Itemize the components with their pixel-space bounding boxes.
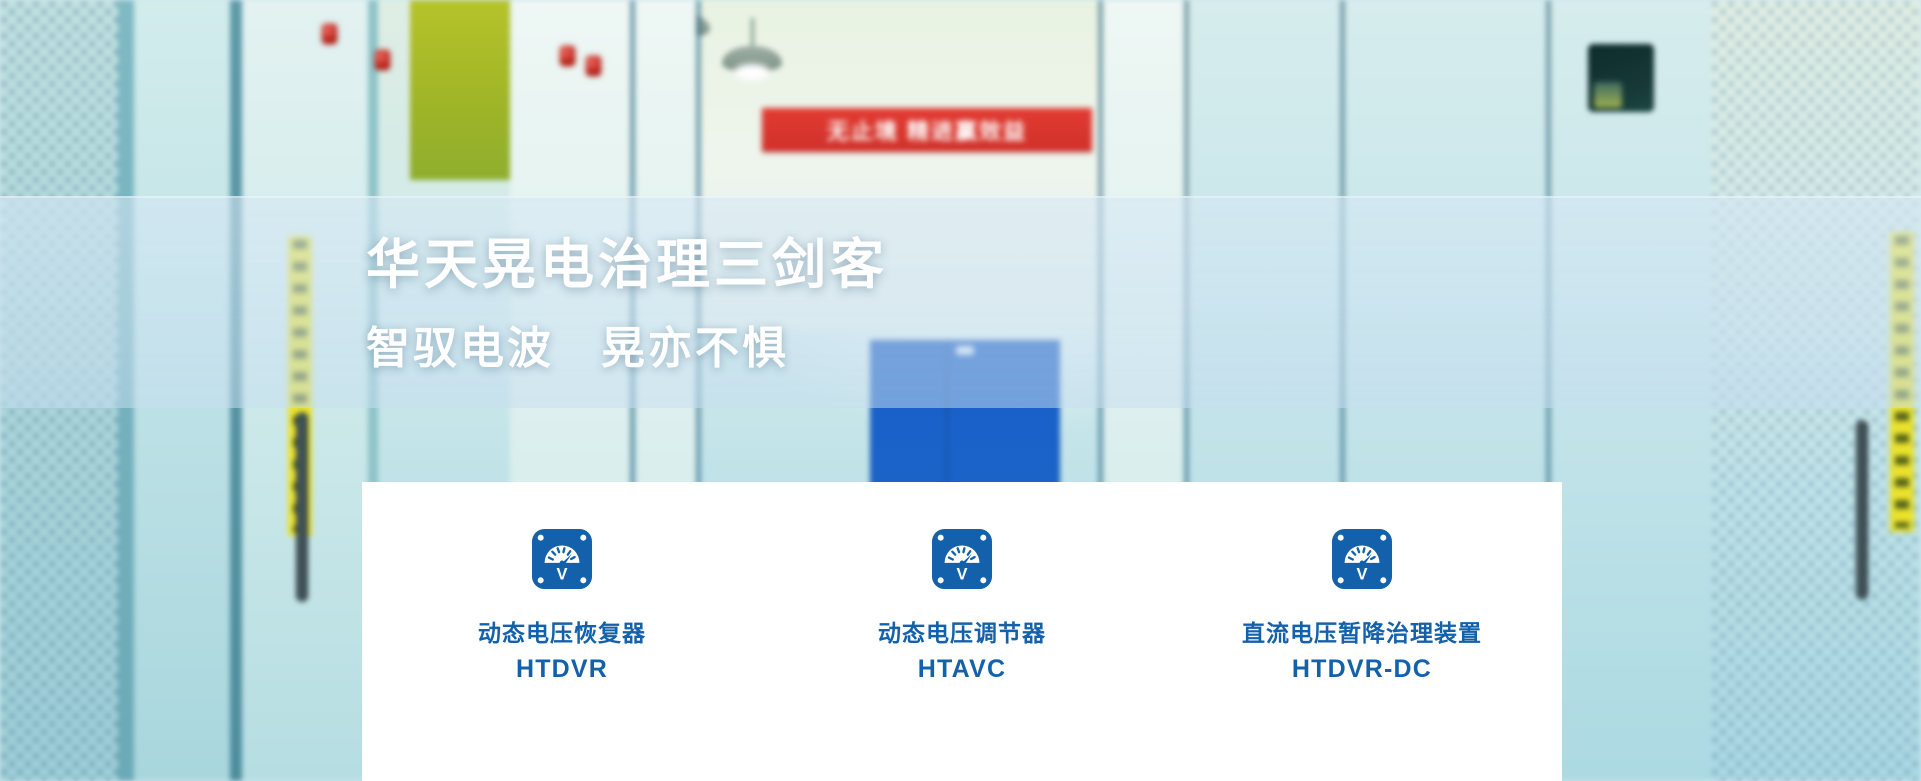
svg-text:V: V — [557, 565, 568, 583]
wall-banner: 无止境 精进赢效益 — [762, 108, 1092, 152]
ceiling-lamp-2 — [722, 18, 782, 88]
door-handle — [1856, 420, 1868, 600]
product-code: HTDVR — [397, 655, 727, 684]
indicator-light — [375, 50, 390, 70]
voltmeter-icon: V — [797, 528, 1127, 590]
page-subtitle: 智驭电波 晃亦不惧 — [366, 312, 888, 376]
product-name: 动态电压调节器 — [797, 618, 1127, 649]
indicator-light — [322, 24, 337, 44]
product-name: 动态电压恢复器 — [397, 618, 727, 649]
product-item[interactable]: V 动态电压恢复器 HTDVR — [397, 482, 727, 684]
overlay-band-top-edge — [0, 196, 1921, 198]
yellow-green-panel — [410, 0, 510, 180]
product-name: 直流电压暂降治理装置 — [1197, 618, 1527, 649]
indicator-light — [560, 46, 575, 66]
overlay-band — [0, 196, 1921, 408]
product-card: V 动态电压恢复器 HTDVR — [362, 482, 1562, 781]
door-handle — [296, 412, 308, 602]
product-code: HTAVC — [797, 655, 1127, 684]
hero-banner: 无止境 精进赢效益 — [0, 0, 1921, 781]
voltmeter-icon: V — [1197, 528, 1527, 590]
cabinet-window — [1586, 42, 1656, 114]
indicator-light — [586, 56, 601, 76]
page-title: 华天晃电治理三剑客 — [366, 236, 888, 294]
hero-text-block: 华天晃电治理三剑客 智驭电波 晃亦不惧 — [366, 236, 888, 376]
product-item[interactable]: V 直流电压暂降治理装置 HTDVR-DC — [1197, 482, 1527, 684]
svg-text:V: V — [1357, 565, 1368, 583]
product-item[interactable]: V 动态电压调节器 HTAVC — [797, 482, 1127, 684]
svg-text:V: V — [957, 565, 968, 583]
product-code: HTDVR-DC — [1197, 655, 1527, 684]
voltmeter-icon: V — [397, 528, 727, 590]
